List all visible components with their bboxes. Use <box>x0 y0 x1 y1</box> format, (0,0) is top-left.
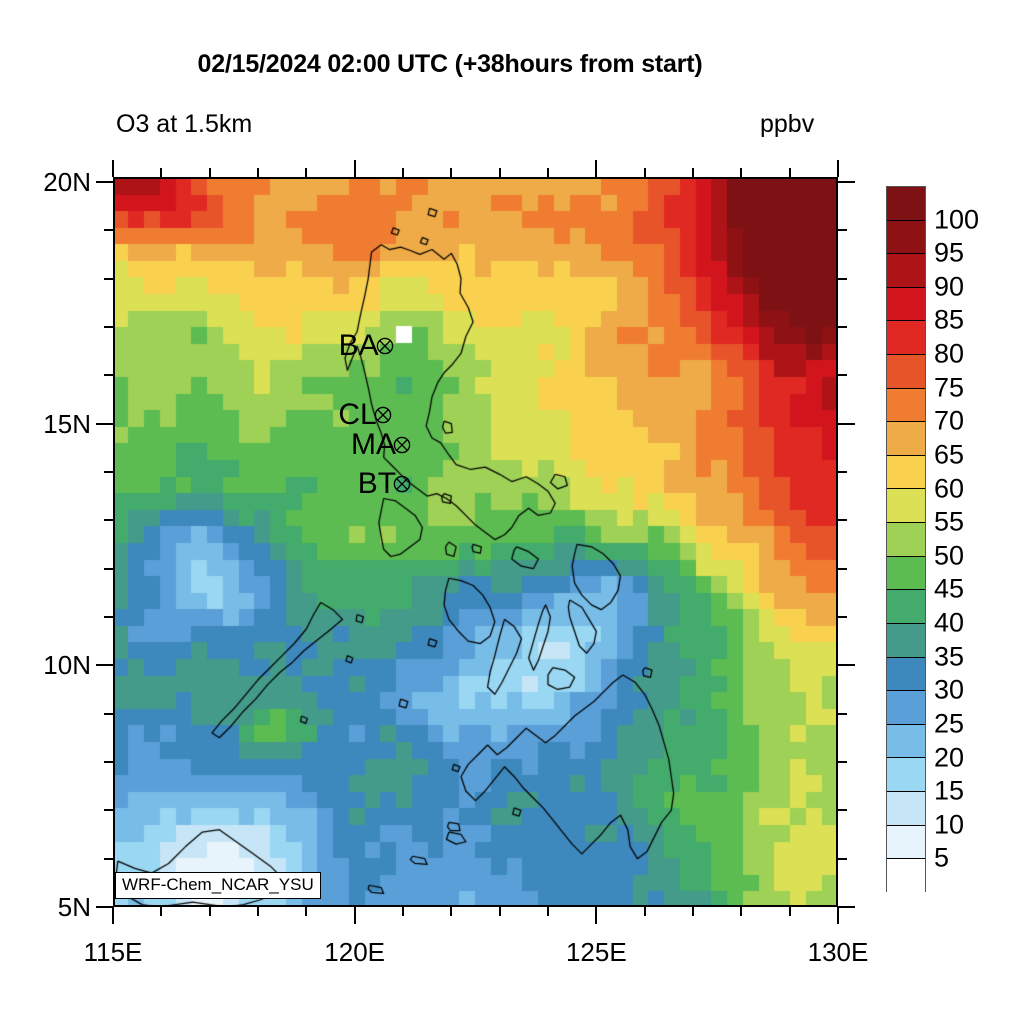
x-axis-minor-tick <box>160 907 162 916</box>
x-axis-major-tick-top <box>354 160 356 177</box>
colorbar-tick-label: 50 <box>934 540 1004 571</box>
x-axis-minor-tick <box>305 907 307 916</box>
colorbar-tick-labels: 5101520253035404550556065707580859095100 <box>934 186 1014 892</box>
y-axis-minor-tick <box>104 326 113 328</box>
x-axis-minor-tick-top <box>209 168 211 177</box>
station-label: MA <box>351 428 396 462</box>
colorbar-band <box>887 489 925 523</box>
x-axis-minor-tick <box>450 907 452 916</box>
x-axis-minor-tick-top <box>789 168 791 177</box>
y-axis-major-tick-right <box>838 423 855 425</box>
colorbar-band <box>887 590 925 624</box>
x-axis-tick-label: 130E <box>778 937 898 968</box>
colorbar-band <box>887 221 925 255</box>
y-axis-minor-tick-right <box>838 326 847 328</box>
y-axis-minor-tick <box>104 761 113 763</box>
colorbar-tick-label: 70 <box>934 406 1004 437</box>
y-axis-minor-tick <box>104 713 113 715</box>
y-axis-minor-tick <box>104 568 113 570</box>
colorbar-band <box>887 792 925 826</box>
colorbar-band <box>887 422 925 456</box>
colorbar-tick-label: 65 <box>934 439 1004 470</box>
x-axis-minor-tick <box>644 907 646 916</box>
x-axis-minor-tick <box>209 907 211 916</box>
colorbar-band <box>887 355 925 389</box>
x-axis-minor-tick-top <box>644 168 646 177</box>
colorbar-tick-label: 90 <box>934 271 1004 302</box>
x-axis-minor-tick-top <box>450 168 452 177</box>
y-axis-tick-label: 10N <box>1 650 91 681</box>
colorbar-tick-label: 85 <box>934 305 1004 336</box>
y-axis-minor-tick <box>104 471 113 473</box>
colorbar-tick-label: 95 <box>934 238 1004 269</box>
colorbar-band <box>887 557 925 591</box>
x-axis-minor-tick <box>547 907 549 916</box>
y-axis-minor-tick <box>104 374 113 376</box>
y-axis-major-tick-right <box>838 664 855 666</box>
colorbar-tick-label: 30 <box>934 675 1004 706</box>
x-axis-tick-label: 115E <box>53 937 173 968</box>
x-axis-minor-tick-top <box>402 168 404 177</box>
station-label: BT <box>358 467 396 501</box>
colorbar-band <box>887 523 925 557</box>
colorbar-tick-label: 15 <box>934 776 1004 807</box>
y-axis-major-tick <box>96 181 113 183</box>
y-axis-minor-tick-right <box>838 713 847 715</box>
colorbar-tick-label: 20 <box>934 742 1004 773</box>
y-axis-major-tick-right <box>838 906 855 908</box>
colorbar-band <box>887 187 925 221</box>
x-axis-minor-tick <box>499 907 501 916</box>
colorbar-tick-label: 55 <box>934 507 1004 538</box>
colorbar-tick-label: 35 <box>934 641 1004 672</box>
y-axis-tick-label: 20N <box>1 167 91 198</box>
colorbar-tick-label: 75 <box>934 372 1004 403</box>
figure-canvas: 02/15/2024 02:00 UTC (+38hours from star… <box>0 0 1024 1024</box>
colorbar-tick-label: 25 <box>934 708 1004 739</box>
y-axis-major-tick <box>96 906 113 908</box>
colorbar-band <box>887 859 925 893</box>
colorbar-tick-label: 100 <box>934 204 1004 235</box>
y-axis-minor-tick-right <box>838 229 847 231</box>
crossed-circle-icon <box>393 474 412 493</box>
colorbar-tick-label: 45 <box>934 574 1004 605</box>
y-axis-major-tick <box>96 423 113 425</box>
x-axis-major-tick-top <box>837 160 839 177</box>
y-axis-minor-tick <box>104 616 113 618</box>
model-attribution-tag: WRF-Chem_NCAR_YSU <box>115 872 321 899</box>
colorbar-tick-label: 80 <box>934 339 1004 370</box>
x-axis-minor-tick-top <box>499 168 501 177</box>
x-axis-minor-tick-top <box>257 168 259 177</box>
y-axis-minor-tick <box>104 278 113 280</box>
units-label: ppbv <box>760 110 814 139</box>
y-axis-tick-label: 15N <box>1 409 91 440</box>
station-label: BA <box>339 329 379 363</box>
y-axis-minor-tick-right <box>838 374 847 376</box>
colorbar-band <box>887 254 925 288</box>
station-label: CL <box>338 398 376 432</box>
y-axis-minor-tick <box>104 519 113 521</box>
colorbar[interactable] <box>886 186 926 892</box>
y-axis-minor-tick-right <box>838 278 847 280</box>
colorbar-tick-label: 10 <box>934 809 1004 840</box>
x-axis-minor-tick-top <box>305 168 307 177</box>
y-axis-minor-tick <box>104 229 113 231</box>
x-axis-major-tick <box>595 907 597 924</box>
y-axis-major-tick <box>96 664 113 666</box>
x-axis-minor-tick-top <box>547 168 549 177</box>
colorbar-band <box>887 456 925 490</box>
colorbar-band <box>887 658 925 692</box>
colorbar-band <box>887 288 925 322</box>
crossed-circle-icon <box>373 405 392 424</box>
x-axis-major-tick <box>354 907 356 924</box>
y-axis-minor-tick <box>104 858 113 860</box>
colorbar-tick-label: 40 <box>934 608 1004 639</box>
crossed-circle-icon <box>393 436 412 455</box>
coastline-overlay <box>113 177 838 907</box>
x-axis-minor-tick-top <box>692 168 694 177</box>
colorbar-tick-label: 5 <box>934 843 1004 874</box>
x-axis-major-tick-top <box>595 160 597 177</box>
subtitle-variable-level: O3 at 1.5km <box>116 110 252 139</box>
crossed-circle-icon <box>375 337 394 356</box>
x-axis-major-tick <box>112 907 114 924</box>
page-title: 02/15/2024 02:00 UTC (+38hours from star… <box>0 50 900 79</box>
y-axis-minor-tick-right <box>838 616 847 618</box>
x-axis-tick-label: 120E <box>295 937 415 968</box>
colorbar-band <box>887 725 925 759</box>
x-axis-major-tick <box>837 907 839 924</box>
y-axis-minor-tick-right <box>838 858 847 860</box>
x-axis-minor-tick-top <box>160 168 162 177</box>
colorbar-band <box>887 321 925 355</box>
x-axis-minor-tick <box>789 907 791 916</box>
y-axis-minor-tick-right <box>838 761 847 763</box>
x-axis-major-tick-top <box>112 160 114 177</box>
colorbar-tick-label: 60 <box>934 473 1004 504</box>
colorbar-band <box>887 758 925 792</box>
x-axis-tick-label: 125E <box>536 937 656 968</box>
y-axis-minor-tick-right <box>838 471 847 473</box>
y-axis-tick-label: 5N <box>1 892 91 923</box>
colorbar-band <box>887 826 925 860</box>
colorbar-band <box>887 624 925 658</box>
x-axis-minor-tick <box>402 907 404 916</box>
y-axis-minor-tick-right <box>838 809 847 811</box>
x-axis-minor-tick <box>257 907 259 916</box>
map-plot-area <box>113 177 838 907</box>
y-axis-minor-tick-right <box>838 568 847 570</box>
y-axis-minor-tick-right <box>838 519 847 521</box>
y-axis-minor-tick <box>104 809 113 811</box>
x-axis-minor-tick-top <box>740 168 742 177</box>
colorbar-band <box>887 691 925 725</box>
colorbar-band <box>887 389 925 423</box>
x-axis-minor-tick <box>740 907 742 916</box>
y-axis-major-tick-right <box>838 181 855 183</box>
x-axis-minor-tick <box>692 907 694 916</box>
